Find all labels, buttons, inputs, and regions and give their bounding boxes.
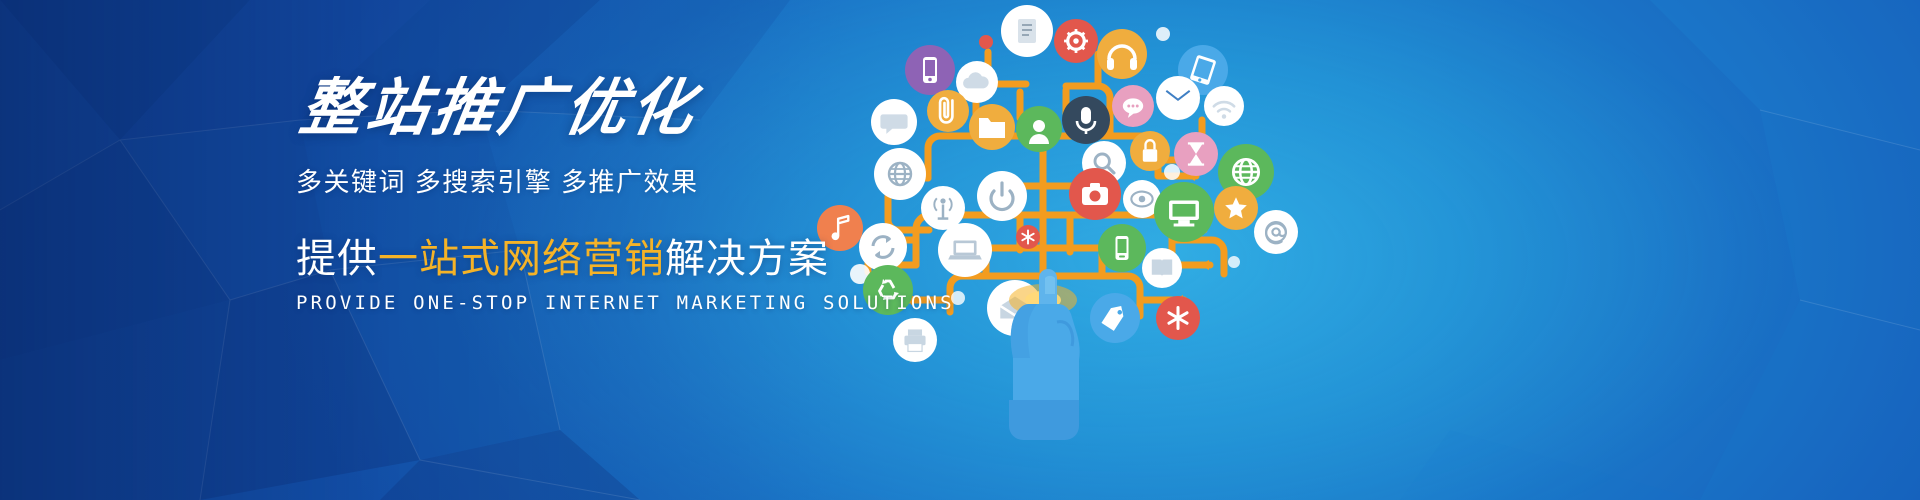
icon-bubble-camera (1069, 168, 1121, 220)
icon-bubble-speech (1112, 85, 1154, 127)
icon-bubble-asterisk-large (1156, 296, 1200, 340)
icon-bubble-headphones (1097, 29, 1147, 79)
icon-bubble-book (1142, 248, 1182, 288)
icon-bubble-star (1214, 186, 1258, 230)
icon-bubble-printer (893, 318, 937, 362)
banner-english-tagline: PROVIDE ONE-STOP INTERNET MARKETING SOLU… (296, 292, 1056, 314)
icon-bubble-lock (1130, 131, 1170, 171)
banner-tagline: 提供一站式网络营销解决方案 (296, 236, 1056, 282)
icon-bubble-wifi (1204, 86, 1244, 126)
banner-subline: 多关键词 多搜索引擎 多推广效果 (296, 167, 1056, 198)
banner-copy: 整站推广优化 多关键词 多搜索引擎 多推广效果 提供一站式网络营销解决方案 PR… (296, 78, 1056, 314)
icon-bubble-document (1001, 5, 1053, 57)
icon-bubble-tag (1090, 293, 1140, 343)
icon-bubble-monitor (1154, 182, 1214, 242)
icon-bubble-dot-small-d (1164, 164, 1180, 180)
icon-bubble-at-sign (1254, 210, 1298, 254)
icon-bubble-dot-small-a (1156, 27, 1170, 41)
tagline-highlight: 一站式网络营销 (378, 237, 665, 281)
tagline-prefix: 提供 (296, 237, 378, 281)
icon-bubble-dot-small-f (1228, 256, 1240, 268)
tagline-suffix: 解决方案 (665, 237, 829, 281)
promo-banner: 整站推广优化 多关键词 多搜索引擎 多推广效果 提供一站式网络营销解决方案 PR… (0, 0, 1920, 500)
icon-bubble-cellphone (1098, 224, 1146, 272)
icon-bubble-envelope (1156, 76, 1200, 120)
icon-bubble-microphone (1062, 96, 1110, 144)
banner-headline: 整站推广优化 (296, 78, 1066, 140)
icon-bubble-gear (1054, 19, 1098, 63)
icon-bubble-hourglass (1174, 132, 1218, 176)
icon-bubble-dot-small-b (979, 35, 993, 49)
